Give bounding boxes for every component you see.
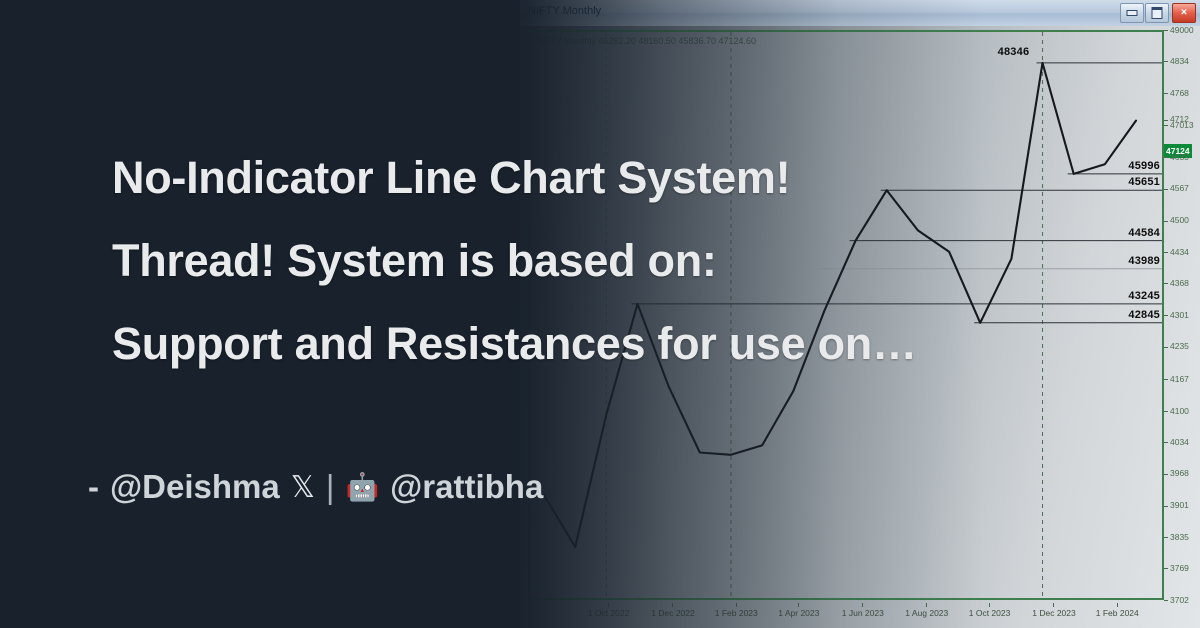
attribution-divider: | bbox=[326, 468, 335, 506]
headline-line-1: No-Indicator Line Chart System! bbox=[112, 136, 1172, 219]
robot-icon: 🤖 bbox=[346, 471, 380, 503]
platform-handle: @rattibha bbox=[390, 468, 543, 506]
attribution-line: - @Deishma 𝕏 | 🤖 @rattibha bbox=[88, 468, 543, 506]
headline-block: No-Indicator Line Chart System! Thread! … bbox=[112, 136, 1172, 385]
x-logo-icon: 𝕏 bbox=[291, 470, 315, 505]
author-handle: @Deishma bbox=[110, 468, 280, 506]
headline-line-2: Thread! System is based on: bbox=[112, 219, 1172, 302]
social-share-card: NIFTY Monthly × BankNifty Spot Monthly C… bbox=[0, 0, 1200, 628]
attribution-prefix: - bbox=[88, 468, 99, 506]
headline-line-3: Support and Resistances for use on… bbox=[112, 302, 1172, 385]
